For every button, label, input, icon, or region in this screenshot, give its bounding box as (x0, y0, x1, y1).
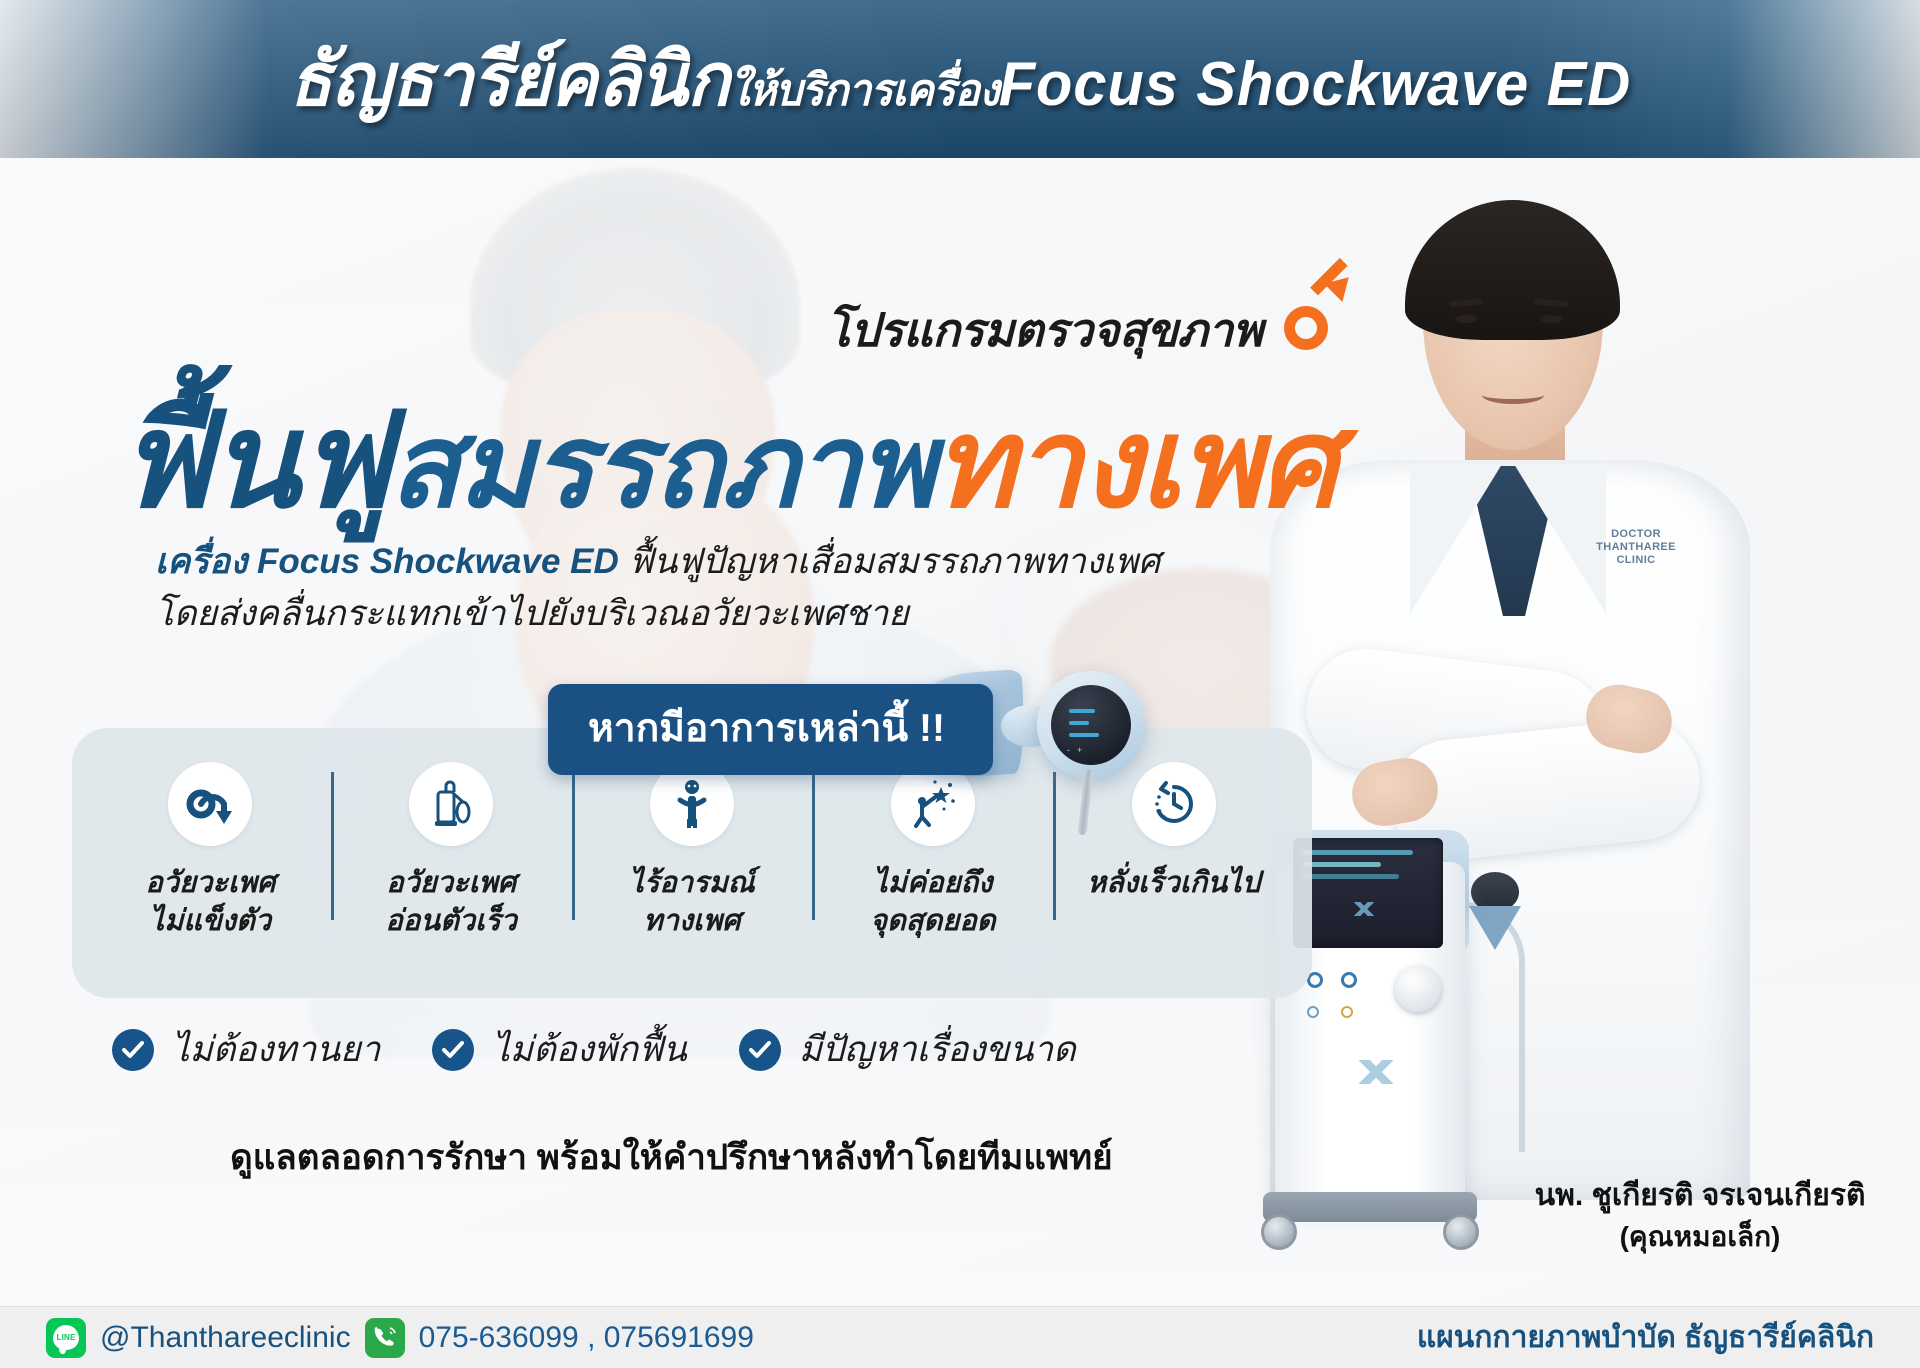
doctor-caption: นพ. ชูเกียรติ จรเจนเกียรติ (คุณหมอเล็ก) (1500, 1175, 1900, 1257)
symptom-item: อวัยวะเพศ ไม่แข็งตัว (90, 762, 331, 940)
line-app-icon[interactable]: LINE (46, 1318, 86, 1358)
check-circle-icon (739, 1029, 781, 1071)
symptom-item: ไร้อารมณ์ ทางเพศ (572, 762, 813, 940)
symptom-label: อวัยวะเพศ ไม่แข็งตัว (145, 864, 275, 940)
symptom-label: ไร้อารมณ์ ทางเพศ (629, 864, 754, 940)
footer-bar: LINE @Thanthareeclinic 075-636099 , 0756… (0, 1306, 1920, 1368)
benefit-item: มีปัญหาเรื่องขนาด (739, 1022, 1076, 1077)
symptom-label: หลั่งเร็วเกินไป (1087, 864, 1260, 902)
hero-description-lead: เครื่อง Focus Shockwave ED (155, 542, 619, 581)
benefit-label: ไม่ต้องพักฟื้น (492, 1022, 686, 1077)
mars-symbol-icon (1282, 274, 1356, 358)
tagline: ดูแลตลอดการรักษา พร้อมให้คำปรึกษาหลังทำโ… (230, 1130, 1113, 1185)
symptom-label: อวัยวะเพศ อ่อนตัวเร็ว (385, 864, 517, 940)
status-badge: หากมีอาการเหล่านี้ !! (548, 684, 993, 775)
benefit-label: ไม่ต้องทานยา (172, 1022, 380, 1077)
symptom-item: อวัยวะเพศ อ่อนตัวเร็ว (331, 762, 572, 940)
doctor-coat-logo: DOCTOR THANTHAREE CLINIC (1588, 528, 1684, 568)
header-title: ธัญธารีย์คลินิกให้บริการเครื่องFocus Sho… (289, 20, 1631, 138)
erection-arrow-icon (168, 762, 252, 846)
benefit-item: ไม่ต้องทานยา (112, 1022, 380, 1077)
check-circle-icon (432, 1029, 474, 1071)
hero-description: เครื่อง Focus Shockwave ED ฟื้นฟูปัญหาเส… (155, 536, 1160, 640)
benefits-list: ไม่ต้องทานยา ไม่ต้องพักฟื้น มีปัญหาเรื่อ… (112, 1022, 1076, 1077)
doctor-hair (1405, 200, 1620, 340)
header-bar: ธัญธารีย์คลินิกให้บริการเครื่องFocus Sho… (0, 0, 1920, 158)
headline-part-3: ทางเพศ (933, 395, 1336, 533)
hero-description-line-2: โดยส่งคลื่นกระแทกเข้าไปยังบริเวณอวัยวะเพ… (155, 588, 1160, 640)
symptom-label: ไม่ค่อยถึง จุดสุดยอด (870, 864, 996, 940)
line-icon-label: LINE (56, 1333, 75, 1342)
phone-ringing-icon[interactable] (365, 1318, 405, 1358)
headline-part-1: ฟื้นฟู (118, 387, 389, 534)
header-service-prefix: ให้บริการเครื่อง (729, 66, 999, 115)
footer-contact-group: LINE @Thanthareeclinic 075-636099 , 0756… (46, 1318, 754, 1358)
footer-department: แผนกกายภาพบำบัด ธัญธารีย์คลินิก (1417, 1314, 1874, 1361)
header-clinic-name: ธัญธารีย์คลินิก (289, 38, 729, 121)
header-brand: Focus Shockwave ED (999, 50, 1632, 119)
poster-root: ธัญธารีย์คลินิกให้บริการเครื่องFocus Sho… (0, 0, 1920, 1368)
check-circle-icon (112, 1029, 154, 1071)
phone-number-text[interactable]: 075-636099 , 075691699 (419, 1321, 754, 1355)
doctor-nickname: (คุณหมอเล็ก) (1500, 1217, 1900, 1257)
doctor-name: นพ. ชูเกียรติ จรเจนเกียรติ (1500, 1175, 1900, 1217)
page-title: ฟื้นฟูสมรรถภาพทางเพศ (118, 355, 1336, 565)
benefit-item: ไม่ต้องพักฟื้น (432, 1022, 686, 1077)
hero-description-rest: ฟื้นฟูปัญหาเสื่อมสมรรถภาพทางเพศ (619, 542, 1160, 581)
hero-description-line-1: เครื่อง Focus Shockwave ED ฟื้นฟูปัญหาเส… (155, 536, 1160, 588)
benefit-label: มีปัญหาเรื่องขนาด (799, 1022, 1076, 1077)
line-id-text[interactable]: @Thanthareeclinic (100, 1321, 351, 1355)
headline-part-2: สมรรถภาพ (389, 401, 933, 531)
pump-device-icon (409, 762, 493, 846)
